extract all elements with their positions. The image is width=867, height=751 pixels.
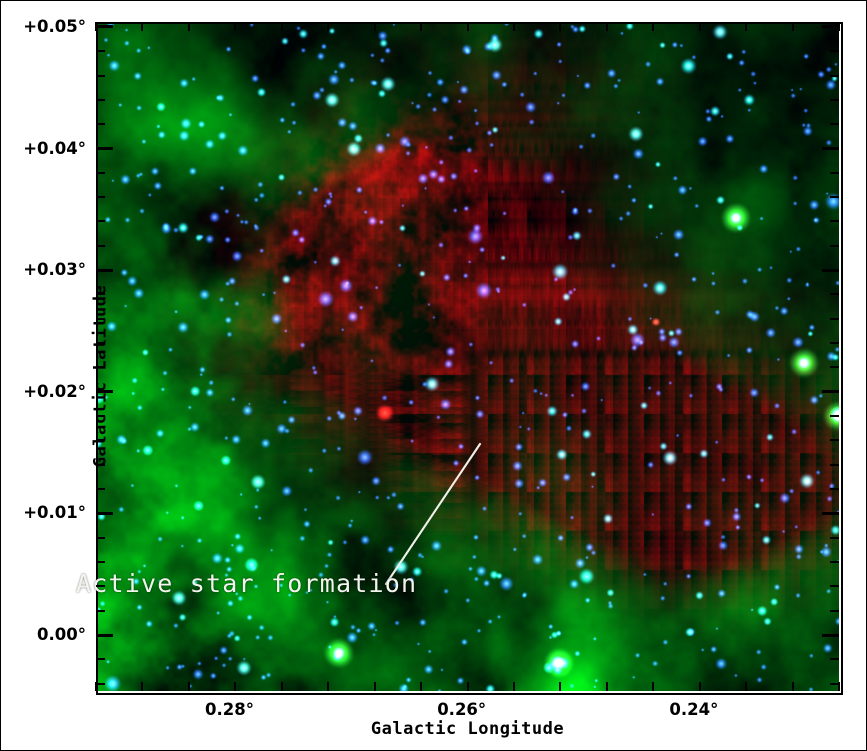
- axis-tick-bottom: [188, 682, 190, 691]
- axis-tick-top: [327, 22, 329, 31]
- axis-tick-right: [830, 610, 839, 612]
- axis-tick-top: [95, 22, 97, 31]
- axis-tick-right: [830, 196, 839, 198]
- axis-tick-top: [606, 22, 608, 31]
- axis-tick-right: [822, 634, 839, 637]
- axis-tick-top: [141, 22, 143, 31]
- axis-tick-top: [792, 22, 794, 31]
- figure-panel: Active star formation Galactic Latitude …: [0, 0, 867, 751]
- y-tick-label: 0.00°: [37, 625, 86, 644]
- axis-tick-right: [830, 366, 839, 368]
- axis-tick-left: [96, 439, 105, 441]
- axis-tick-left: [96, 75, 105, 77]
- axis-tick-left: [96, 25, 113, 28]
- axis-tick-bottom: [792, 682, 794, 691]
- axis-tick-left: [96, 318, 105, 320]
- axis-tick-left: [96, 293, 105, 295]
- axis-tick-left: [96, 537, 105, 539]
- axis-tick-top: [513, 22, 515, 31]
- y-tick-label: +0.01°: [23, 503, 86, 522]
- axis-tick-bottom: [513, 682, 515, 691]
- axis-tick-right: [830, 342, 839, 344]
- axis-tick-right: [830, 245, 839, 247]
- axis-tick-left: [96, 390, 113, 393]
- axis-tick-top: [838, 22, 840, 31]
- axis-tick-bottom: [95, 682, 97, 691]
- axis-tick-top: [374, 22, 376, 31]
- axis-tick-right: [822, 147, 839, 150]
- axis-tick-left: [96, 342, 105, 344]
- axis-tick-bottom: [420, 682, 422, 691]
- axis-tick-right: [830, 585, 839, 587]
- axis-tick-right: [830, 75, 839, 77]
- axis-tick-right: [822, 390, 839, 393]
- axis-tick-right: [830, 293, 839, 295]
- axis-tick-top: [467, 22, 469, 31]
- axis-tick-top: [559, 22, 561, 31]
- axis-tick-bottom: [652, 682, 654, 691]
- y-tick-label: +0.04°: [23, 139, 86, 158]
- axis-tick-bottom: [327, 682, 329, 691]
- axis-tick-right: [830, 99, 839, 101]
- axis-tick-right: [830, 537, 839, 539]
- axis-tick-right: [830, 220, 839, 222]
- axis-tick-top: [652, 22, 654, 31]
- axis-tick-left: [96, 658, 105, 660]
- axis-tick-bottom: [467, 682, 469, 691]
- axis-tick-bottom: [745, 682, 747, 691]
- axis-tick-bottom: [838, 682, 840, 691]
- axis-tick-bottom: [606, 682, 608, 691]
- axis-tick-bottom: [559, 682, 561, 691]
- axis-tick-left: [96, 488, 105, 490]
- axis-tick-left: [96, 245, 105, 247]
- axis-tick-right: [830, 464, 839, 466]
- axis-tick-left: [96, 561, 105, 563]
- axis-tick-left: [96, 123, 105, 125]
- axis-tick-left: [96, 512, 113, 515]
- y-tick-label: +0.05°: [23, 17, 86, 36]
- axis-tick-bottom: [234, 682, 236, 691]
- axis-tick-right: [822, 269, 839, 272]
- axis-tick-right: [830, 318, 839, 320]
- y-tick-label: +0.02°: [23, 382, 86, 401]
- y-tick-label: +0.03°: [23, 260, 86, 279]
- annotation-label: Active star formation: [76, 569, 417, 598]
- axis-tick-right: [822, 25, 839, 28]
- axis-tick-left: [96, 366, 105, 368]
- axis-tick-left: [96, 147, 113, 150]
- x-axis-title: Galactic Longitude: [96, 719, 839, 739]
- axis-tick-left: [96, 269, 113, 272]
- axis-tick-left: [96, 172, 105, 174]
- x-tick-label: 0.26°: [412, 700, 512, 719]
- axis-tick-left: [96, 50, 105, 52]
- axis-tick-left: [96, 464, 105, 466]
- axis-tick-right: [830, 172, 839, 174]
- axis-tick-right: [830, 415, 839, 417]
- axis-tick-right: [830, 561, 839, 563]
- axis-tick-bottom: [374, 682, 376, 691]
- axis-tick-left: [96, 99, 105, 101]
- axis-tick-left: [96, 634, 113, 637]
- axis-tick-left: [96, 610, 105, 612]
- axis-tick-left: [96, 585, 105, 587]
- axis-tick-right: [830, 123, 839, 125]
- axis-tick-right: [830, 50, 839, 52]
- axis-tick-bottom: [141, 682, 143, 691]
- axis-tick-right: [830, 658, 839, 660]
- x-tick-label: 0.28°: [180, 700, 280, 719]
- axis-tick-top: [745, 22, 747, 31]
- axis-tick-top: [281, 22, 283, 31]
- axis-tick-right: [822, 512, 839, 515]
- axis-tick-bottom: [699, 682, 701, 691]
- axis-tick-right: [830, 488, 839, 490]
- x-tick-label: 0.24°: [644, 700, 744, 719]
- axis-tick-left: [96, 220, 105, 222]
- axis-tick-top: [188, 22, 190, 31]
- axis-tick-top: [699, 22, 701, 31]
- axis-tick-left: [96, 196, 105, 198]
- axis-tick-top: [420, 22, 422, 31]
- axis-tick-left: [96, 415, 105, 417]
- axis-tick-left: [96, 683, 105, 685]
- axis-tick-right: [830, 439, 839, 441]
- axis-tick-top: [234, 22, 236, 31]
- axis-tick-bottom: [281, 682, 283, 691]
